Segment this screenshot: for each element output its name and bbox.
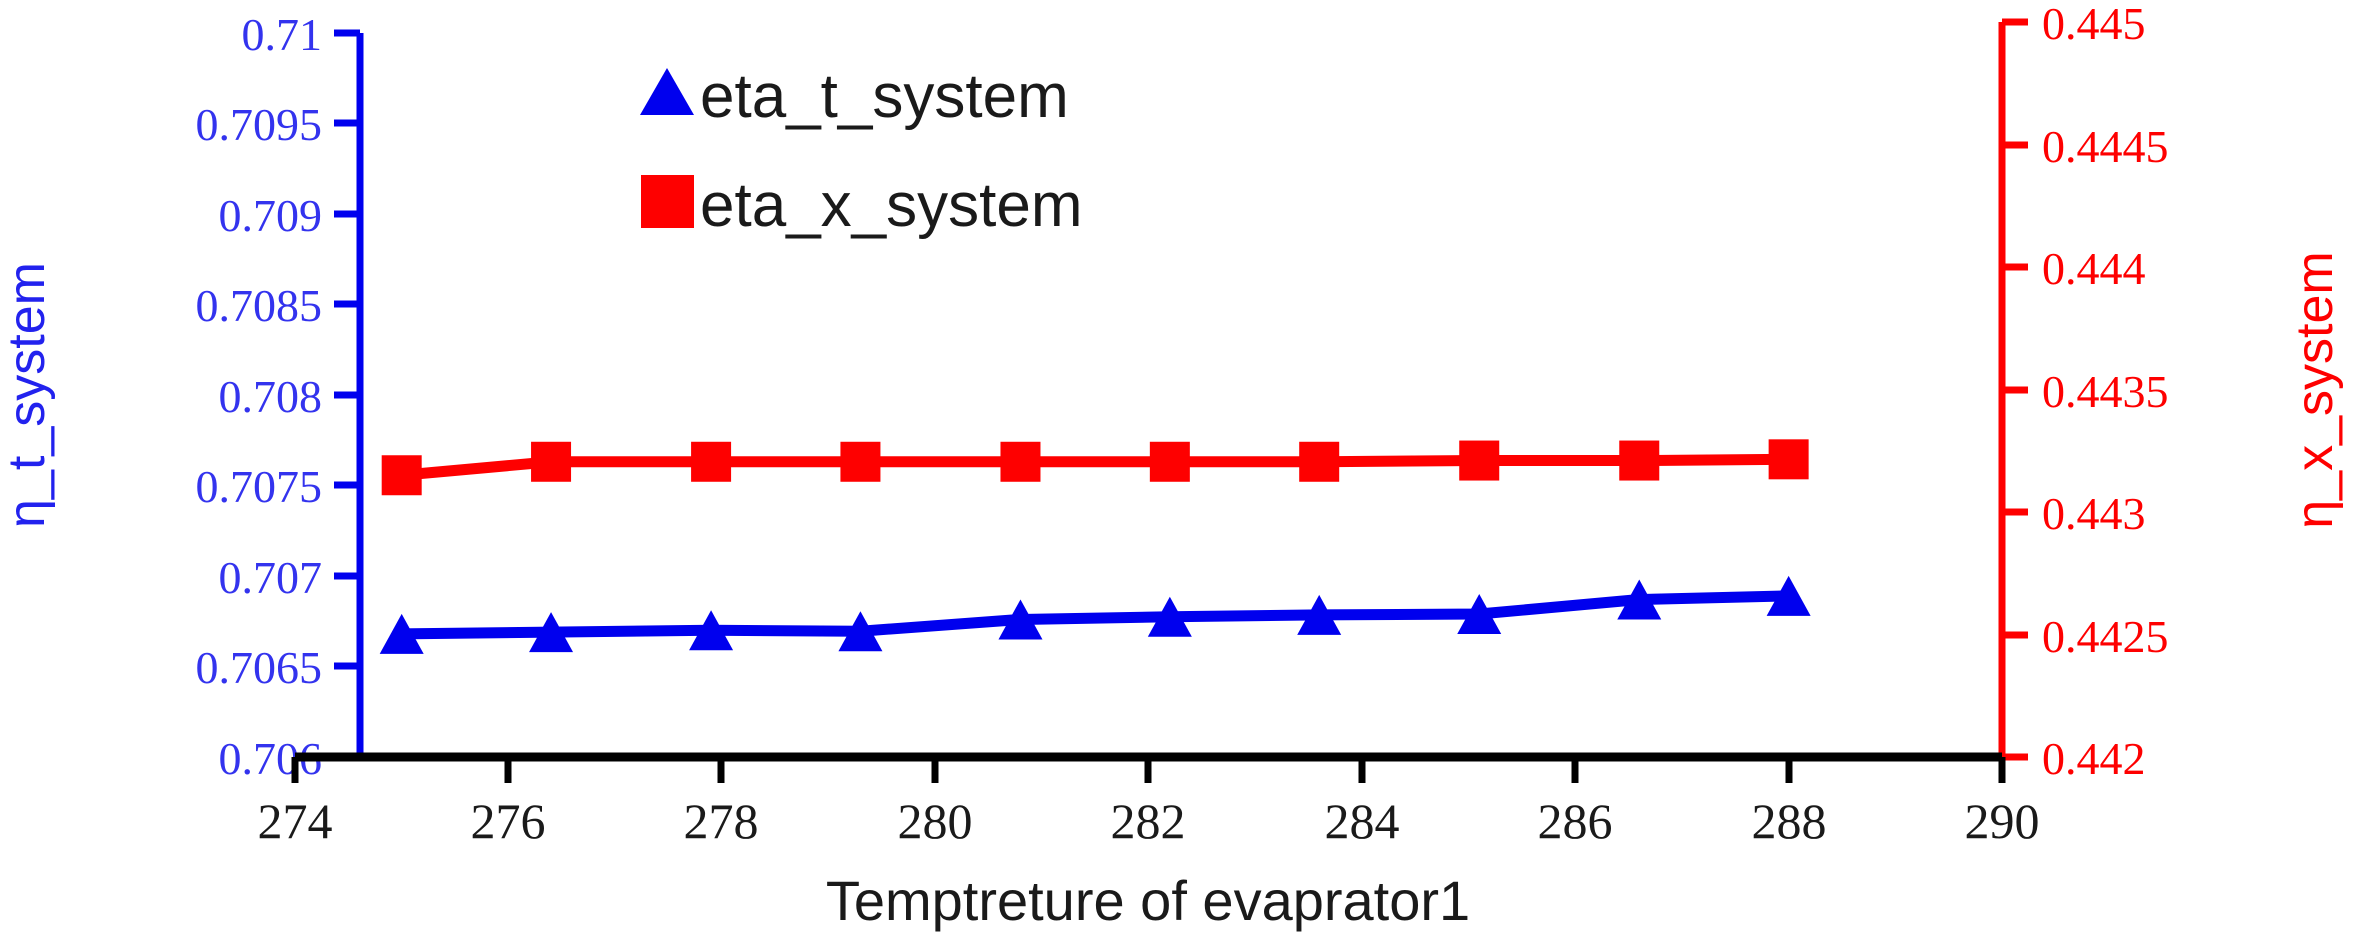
- x-tick-label: 278: [684, 793, 759, 849]
- square-marker: [1619, 441, 1659, 481]
- square-marker: [1000, 442, 1040, 482]
- chart-container: 0.71 0.7095 0.709 0.7085 0.708 0.7075 0.…: [0, 0, 2371, 943]
- legend-label: eta_t_system: [700, 62, 1069, 131]
- right-axis-title: η_x_system: [2286, 251, 2344, 528]
- left-axis-title: η_t_system: [0, 262, 56, 528]
- chart-canvas: 0.71 0.7095 0.709 0.7085 0.708 0.7075 0.…: [0, 0, 2371, 943]
- square-marker: [531, 442, 571, 482]
- right-tick-label: 0.4435: [2042, 366, 2169, 417]
- x-tick-label: 290: [1965, 793, 2040, 849]
- square-marker: [382, 455, 422, 495]
- square-marker: [1769, 439, 1809, 479]
- right-tick-label: 0.442: [2042, 733, 2146, 784]
- square-marker: [840, 442, 880, 482]
- square-marker: [1459, 441, 1499, 481]
- legend-entry-eta-x-system[interactable]: eta_x_system: [641, 171, 1083, 240]
- square-marker: [1299, 442, 1339, 482]
- right-tick-label: 0.4425: [2042, 611, 2169, 662]
- legend-entry-eta-t-system[interactable]: eta_t_system: [640, 62, 1069, 131]
- right-tick-label: 0.4445: [2042, 121, 2169, 172]
- left-tick-label: 0.708: [219, 371, 323, 422]
- legend-label: eta_x_system: [700, 171, 1083, 240]
- left-tick-label: 0.7065: [196, 642, 323, 693]
- left-tick-label: 0.7085: [196, 280, 323, 331]
- right-tick-label: 0.445: [2042, 0, 2146, 49]
- left-tick-label: 0.7075: [196, 461, 323, 512]
- bottom-axis-tick-labels: 274 276 278 280 282 284 286 288 290: [258, 793, 2040, 849]
- left-tick-label: 0.707: [219, 552, 323, 603]
- square-marker: [1150, 442, 1190, 482]
- left-tick-label: 0.709: [219, 190, 323, 241]
- x-tick-label: 276: [471, 793, 546, 849]
- x-tick-label: 280: [898, 793, 973, 849]
- x-tick-label: 282: [1111, 793, 1186, 849]
- right-tick-label: 0.443: [2042, 488, 2146, 539]
- left-tick-label: 0.7095: [196, 99, 323, 150]
- right-tick-label: 0.444: [2042, 243, 2146, 294]
- x-tick-label: 286: [1538, 793, 1613, 849]
- x-tick-label: 274: [258, 793, 333, 849]
- x-tick-label: 284: [1325, 793, 1400, 849]
- x-axis-title: Temptreture of evaprator1: [826, 869, 1470, 932]
- square-marker: [691, 442, 731, 482]
- left-tick-label: 0.71: [242, 9, 323, 60]
- square-marker-icon: [641, 175, 694, 228]
- x-tick-label: 288: [1752, 793, 1827, 849]
